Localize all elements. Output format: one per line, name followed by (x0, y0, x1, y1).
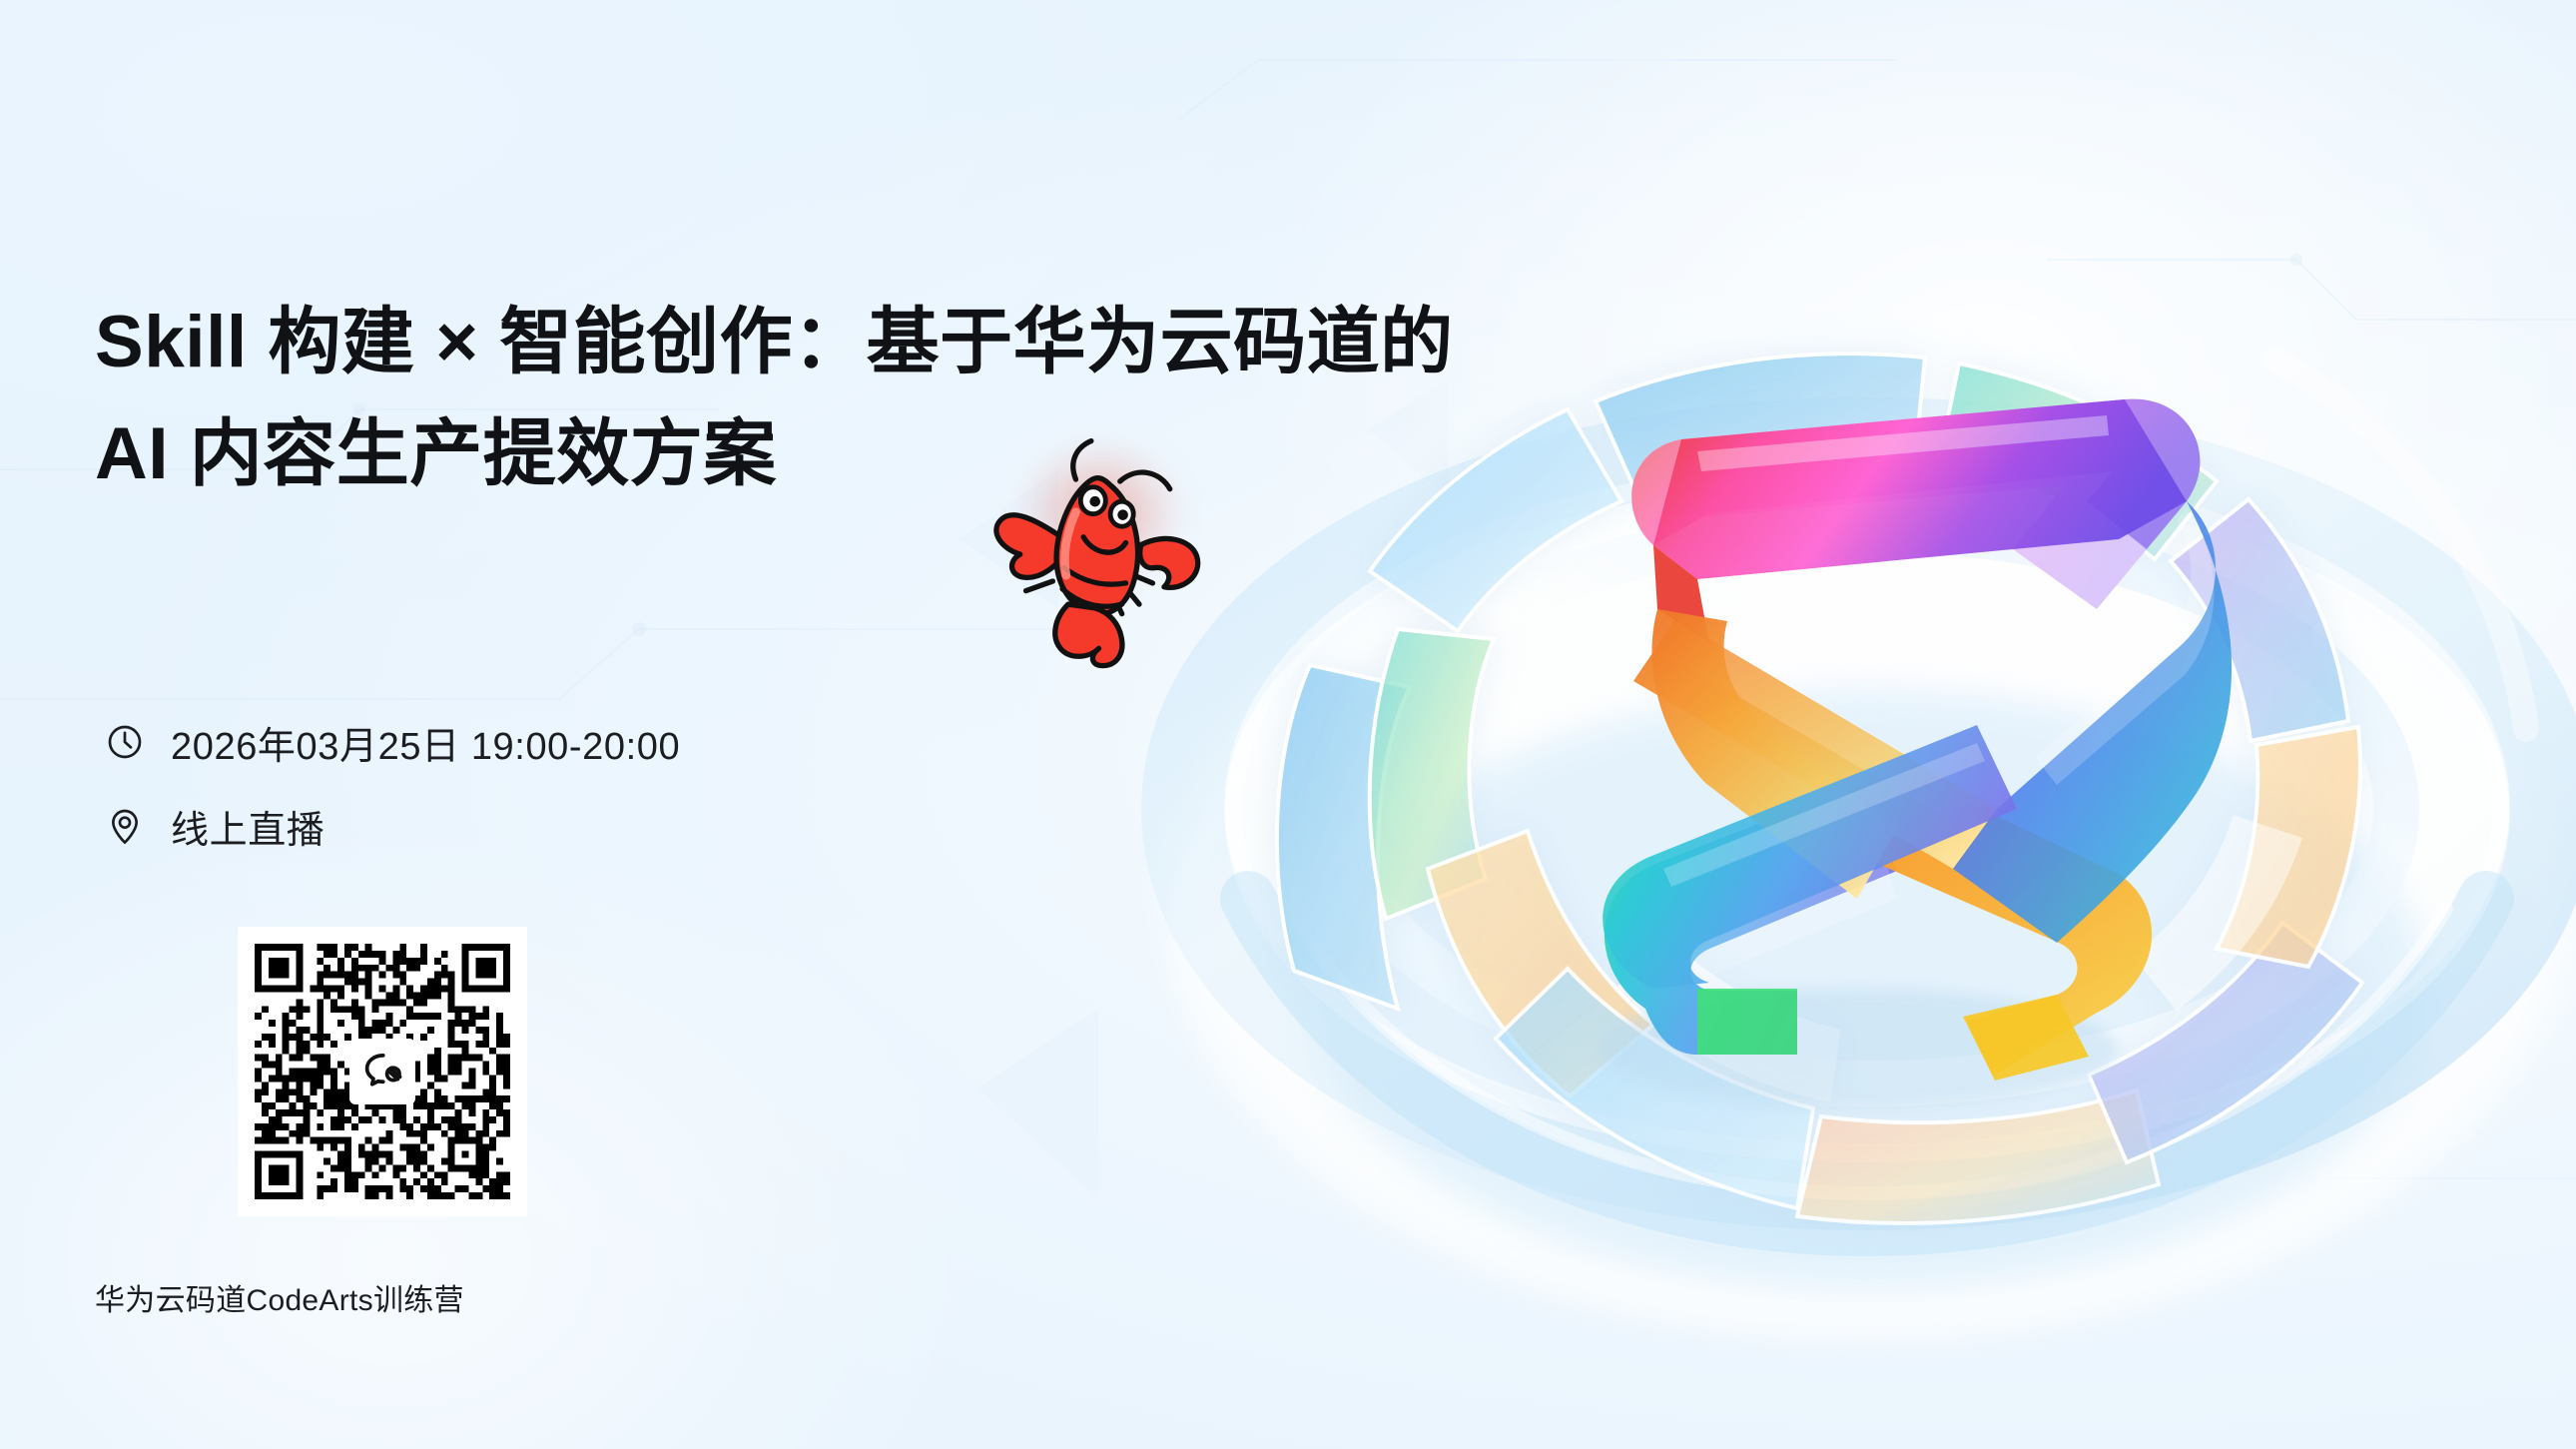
event-location-row: 线上直播 (105, 795, 680, 857)
event-meta: 2026年03月25日 19:00-20:00 线上直播 (105, 711, 680, 879)
poster-canvas: Skill 构建 × 智能创作：基于华为云码道的 AI 内容生产提效方案 202… (0, 0, 2576, 1449)
event-datetime-row: 2026年03月25日 19:00-20:00 (105, 711, 680, 773)
chat-bubble-icon (349, 1039, 415, 1104)
qr-caption: 华为云码道CodeArts训练营 (95, 1275, 654, 1319)
glass-ribbon-artwork (1098, 110, 2576, 1378)
lobster-sticker (973, 431, 1228, 681)
poster-content: Skill 构建 × 智能创作：基于华为云码道的 AI 内容生产提效方案 202… (95, 0, 1293, 1449)
event-datetime-text: 2026年03月25日 19:00-20:00 (171, 715, 680, 770)
title-line-1: Skill 构建 × 智能创作：基于华为云码道的 (95, 302, 1454, 382)
clock-icon (105, 722, 145, 762)
qr-code-block[interactable] (238, 927, 527, 1216)
event-location-text: 线上直播 (171, 799, 324, 854)
qr-code-card[interactable] (238, 927, 527, 1216)
location-icon (105, 806, 145, 846)
